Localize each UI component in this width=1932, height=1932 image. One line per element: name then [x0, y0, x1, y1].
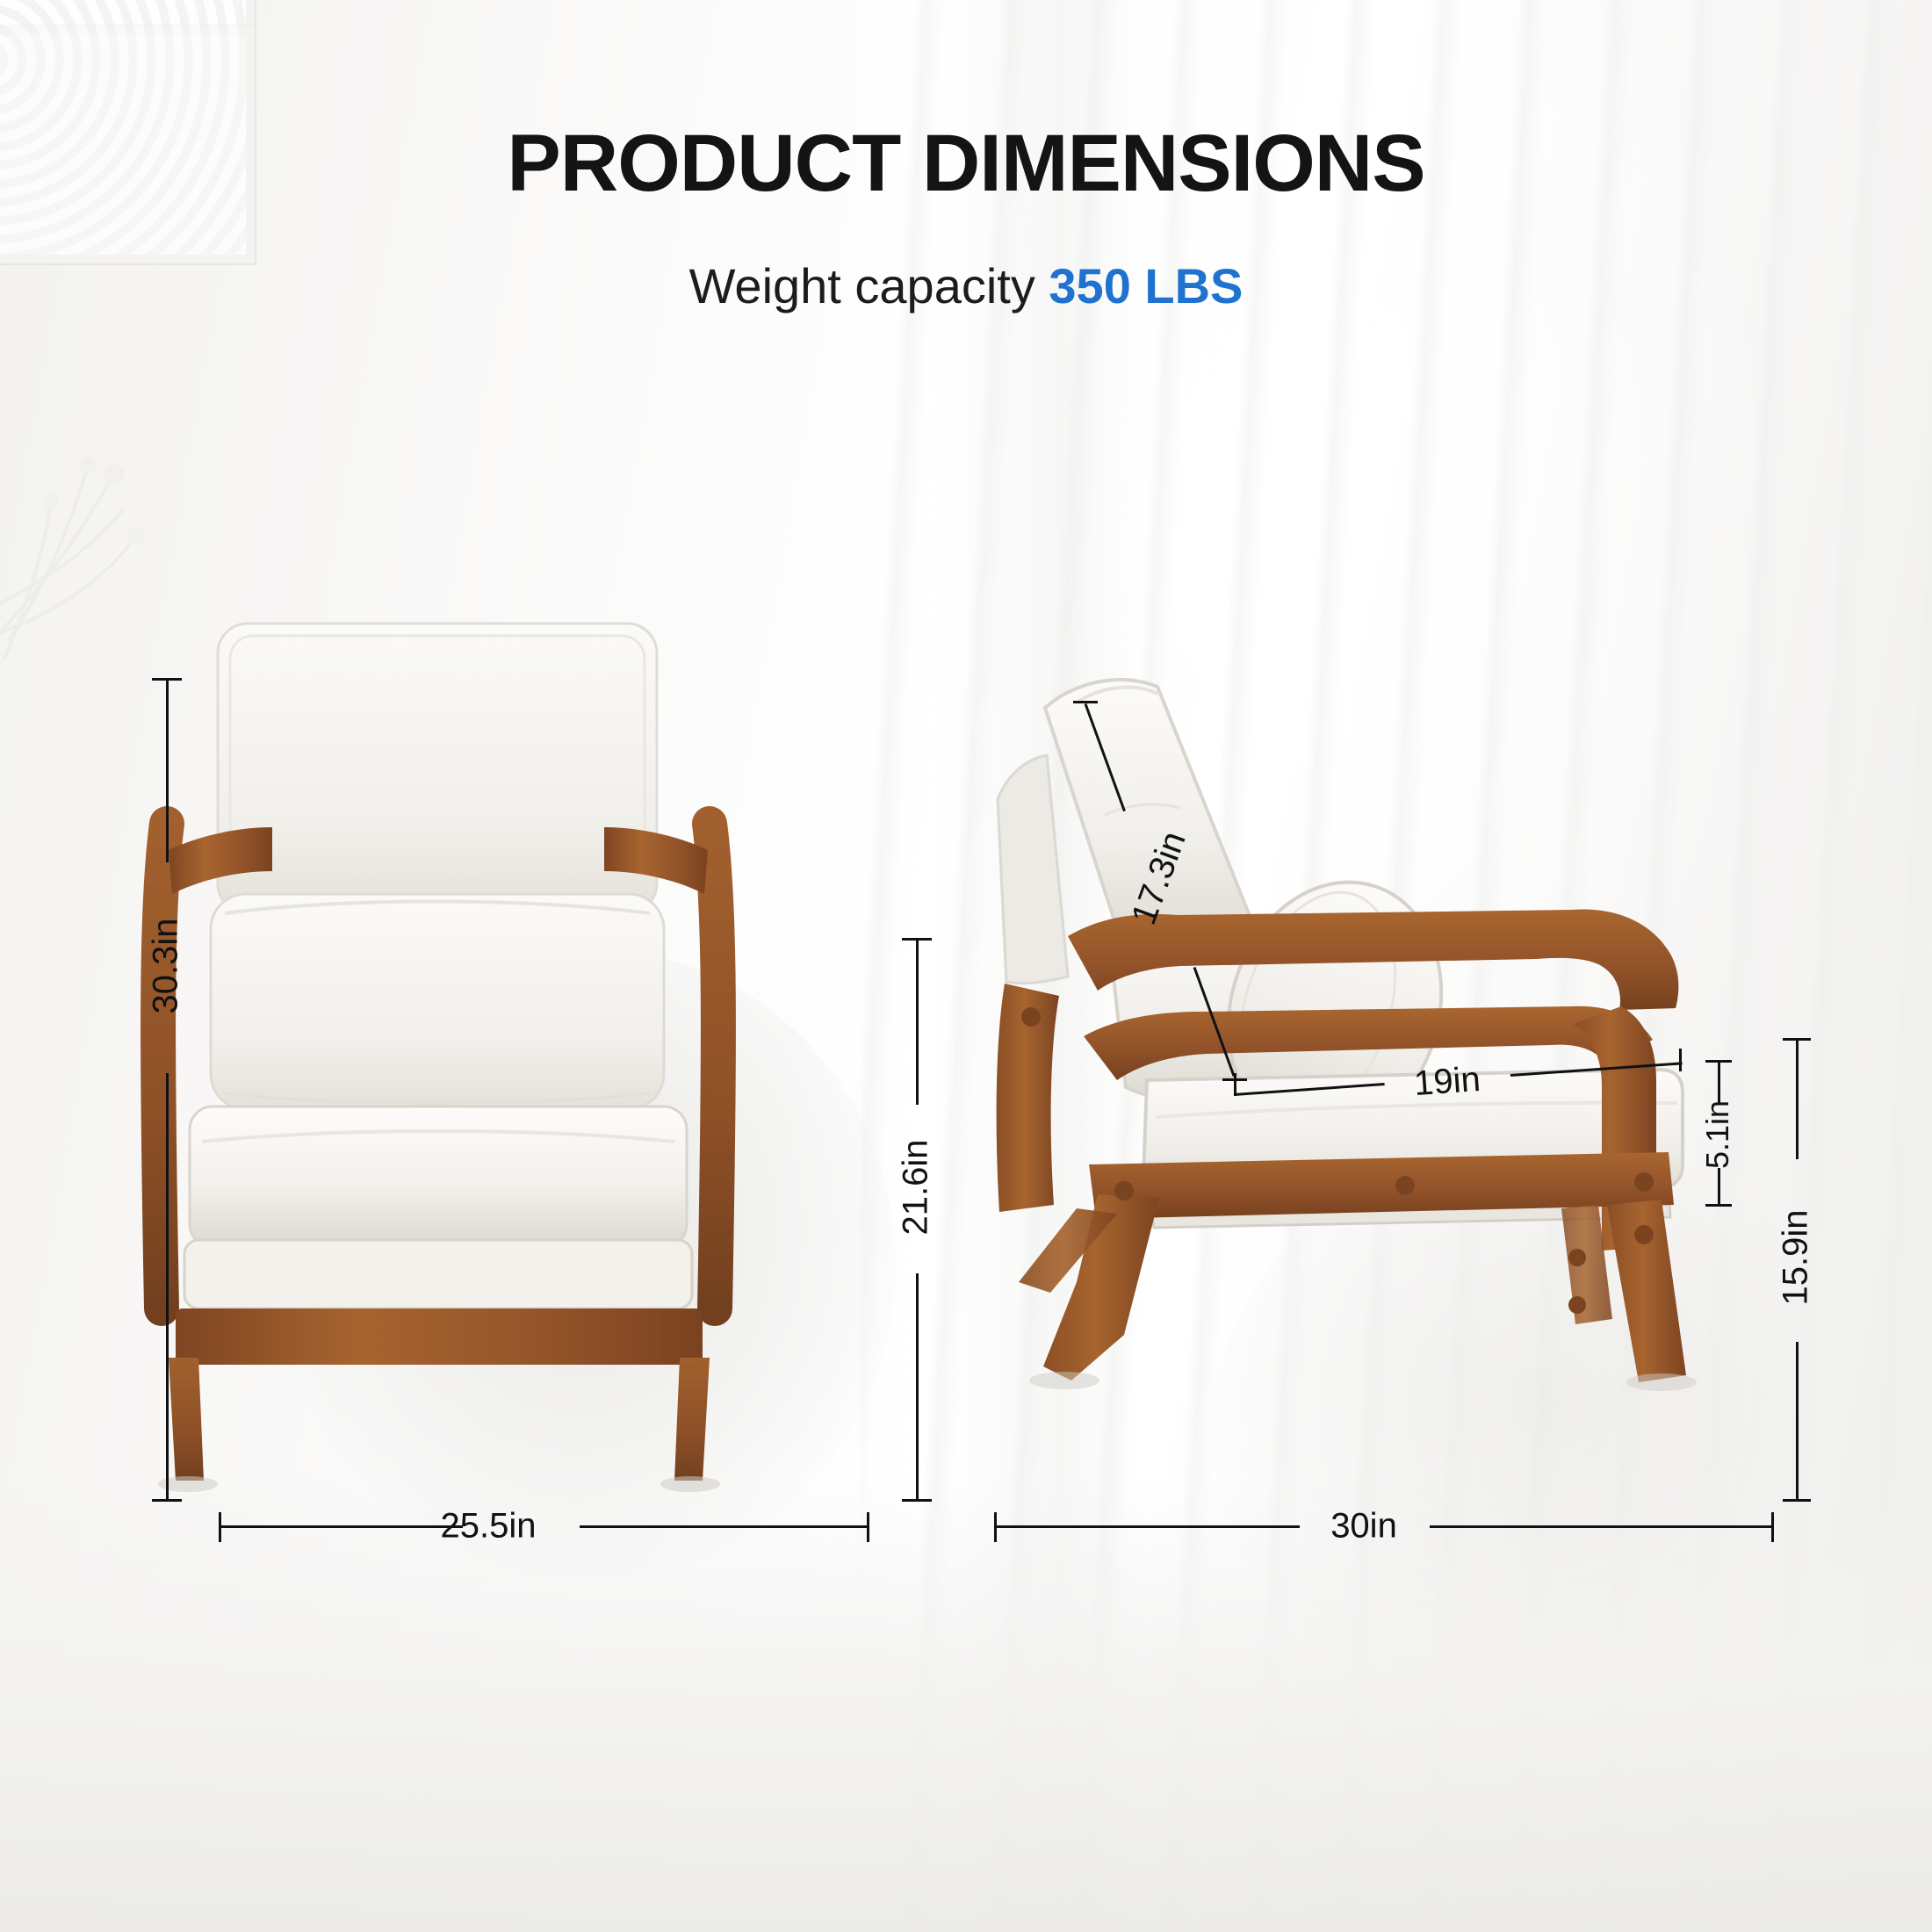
side-far-back-cushion: [998, 755, 1068, 984]
dim-line-upper: [1796, 1038, 1799, 1159]
front-right-leg: [674, 1358, 710, 1481]
dim-line-left: [994, 1525, 1300, 1528]
dim-line-lower: [1796, 1342, 1799, 1502]
page-title: PRODUCT DIMENSIONS: [0, 123, 1932, 204]
dim-cap-right: [1679, 1049, 1682, 1071]
dim-line-lower: [1718, 1168, 1720, 1207]
front-base-cushion: [184, 1240, 692, 1308]
product-dimensions-infographic: PRODUCT DIMENSIONS Weight capacity 350 L…: [0, 0, 1932, 1932]
front-view-chair: [149, 615, 782, 1493]
dim-line-upper: [1718, 1060, 1720, 1104]
weight-capacity-value: 350 LBS: [1049, 258, 1243, 314]
front-seat-cushion: [190, 1107, 687, 1247]
dim-cap-bottom: [1705, 1204, 1732, 1207]
dim-line-lower: [166, 1073, 169, 1502]
front-back-cushion: [218, 624, 657, 913]
dim-line-right: [580, 1525, 869, 1528]
dimension-label-overall-height: 30.3in: [147, 919, 186, 1014]
dim-line-lower: [916, 1273, 919, 1502]
dim-cap-bottom: [152, 1499, 182, 1502]
dim-cap-bottom: [1783, 1499, 1811, 1502]
dimension-label-leg-height: 15.9in: [1777, 1210, 1816, 1306]
side-view-chair: [992, 667, 1730, 1458]
dimension-label-seat-depth: 19in: [1413, 1060, 1482, 1104]
dim-cap-bottom: [902, 1499, 932, 1502]
dim-cap-right: [867, 1512, 869, 1542]
front-apron: [176, 1308, 703, 1365]
front-lumbar-pillow: [211, 894, 664, 1109]
dimension-label-cushion-thickness: 5.1in: [1699, 1100, 1736, 1169]
dim-line-upper: [166, 678, 169, 862]
dimension-label-overall-width: 25.5in: [441, 1507, 537, 1546]
dim-line-right: [1430, 1525, 1774, 1528]
dim-line-left: [219, 1525, 463, 1528]
dimension-label-overall-depth: 30in: [1330, 1507, 1397, 1546]
subtitle-weight-capacity: Weight capacity 350 LBS: [0, 262, 1932, 311]
front-left-leg: [169, 1358, 204, 1481]
dim-cap-right: [1771, 1512, 1774, 1542]
subtitle-prefix: Weight capacity: [689, 258, 1049, 314]
dim-line-upper: [916, 938, 919, 1105]
dimension-label-seat-height: 21.6in: [897, 1140, 936, 1236]
